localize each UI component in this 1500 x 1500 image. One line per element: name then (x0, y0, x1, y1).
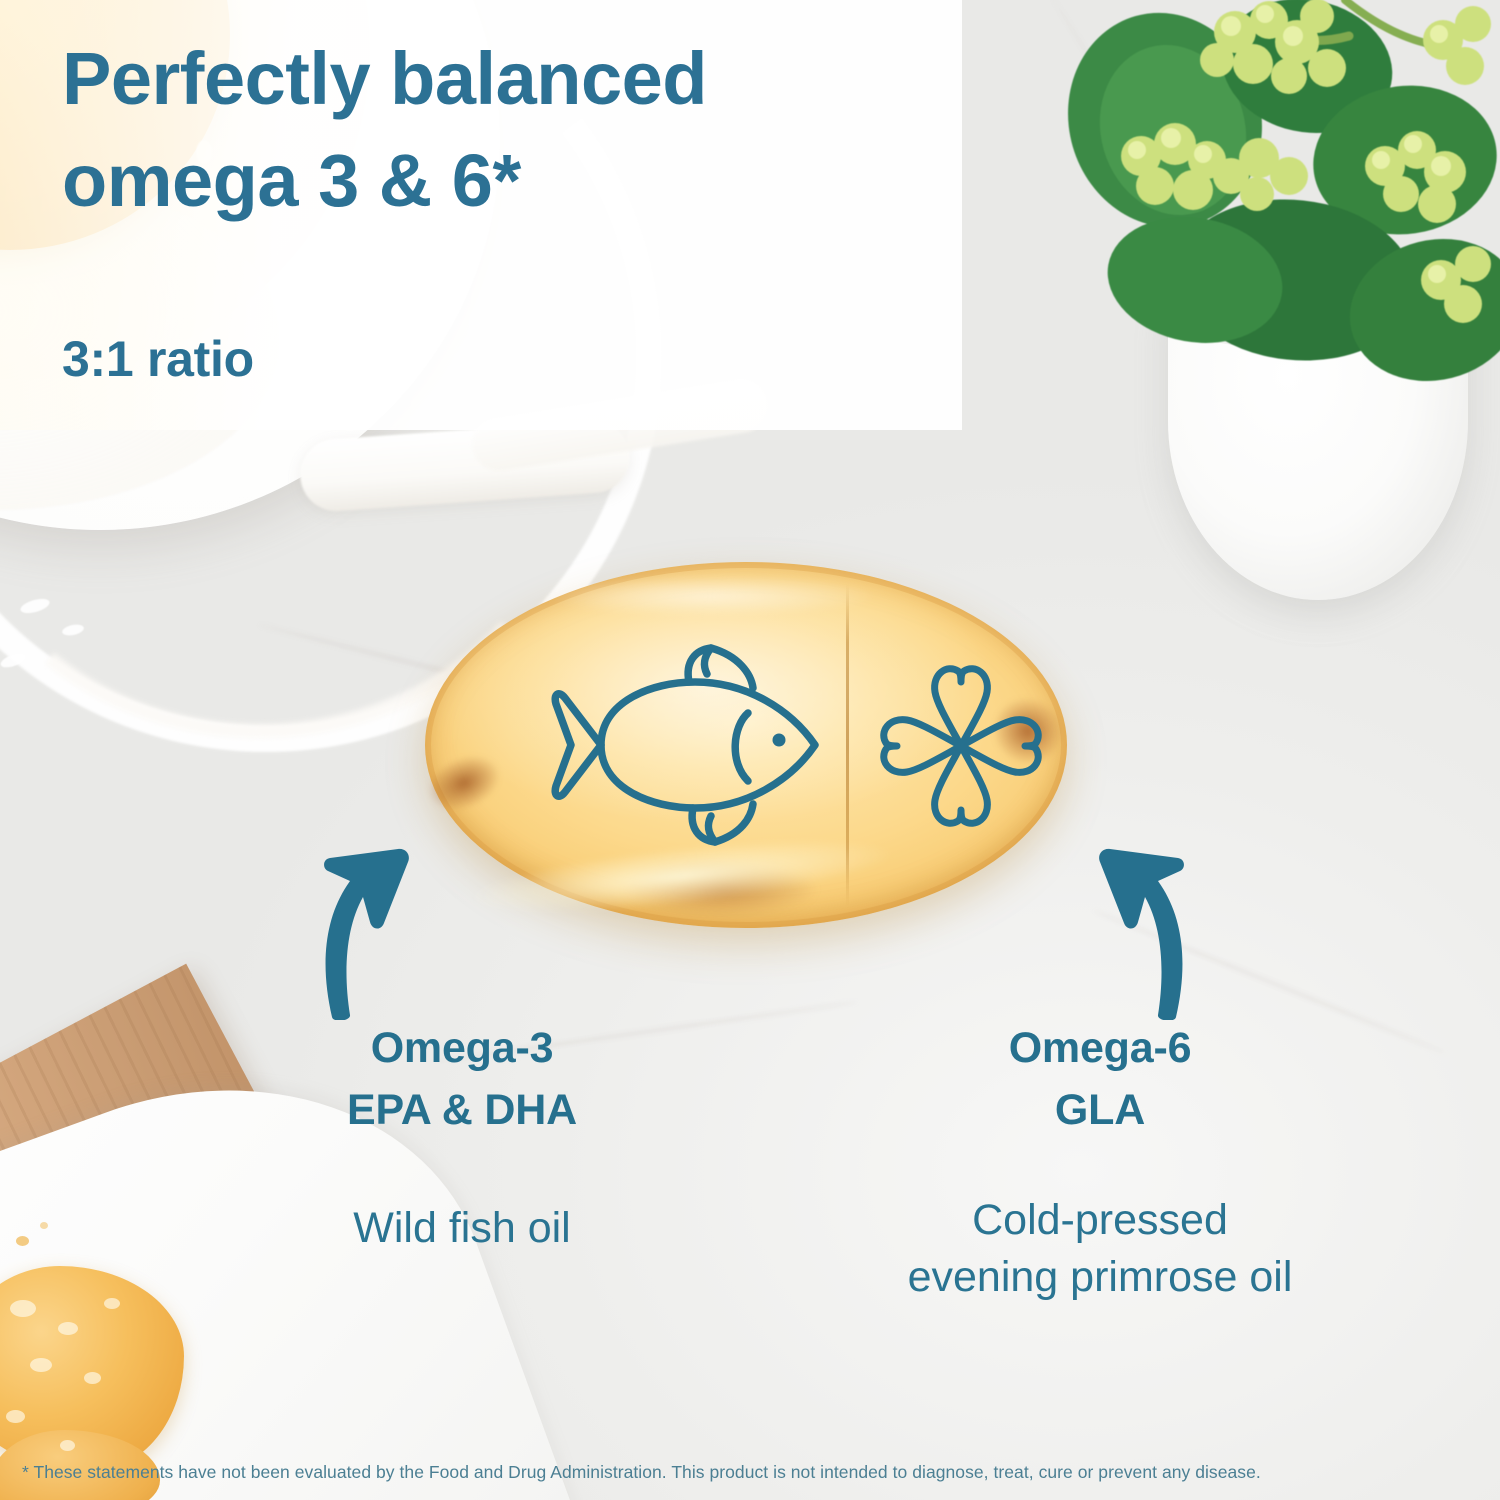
capsule-highlight-top (545, 576, 875, 616)
plant-berries (1045, 0, 1500, 410)
honey-bubble (104, 1298, 120, 1309)
omega-6-subtitle: GLA (820, 1086, 1380, 1134)
headline-line-1: Perfectly balanced (62, 37, 707, 120)
honey-bubble (60, 1440, 75, 1451)
product-infographic: Perfectly balanced omega 3 & 6* 3:1 rati… (0, 0, 1500, 1500)
fish-icon (543, 640, 843, 850)
softgel-capsule (425, 562, 1067, 928)
omega-6-column: Omega-6 GLA Cold-pressed evening primros… (820, 1024, 1380, 1306)
omega-6-source: Cold-pressed evening primrose oil (820, 1192, 1380, 1306)
headline-subhead: 3:1 ratio (62, 330, 254, 388)
honey-bubble (84, 1372, 101, 1384)
capsule-seam-line (846, 584, 849, 906)
honey-bubble (30, 1358, 52, 1372)
headline-line-2: omega 3 & 6* (62, 144, 942, 218)
omega-6-title: Omega-6 (820, 1024, 1380, 1072)
curved-arrow-up-left-icon (1058, 805, 1198, 1020)
omega-3-column: Omega-3 EPA & DHA Wild fish oil (216, 1024, 708, 1257)
honey-bubble (10, 1300, 36, 1317)
omega-3-subtitle: EPA & DHA (216, 1086, 708, 1134)
omega-3-title: Omega-3 (216, 1024, 708, 1072)
omega-3-source: Wild fish oil (216, 1200, 708, 1257)
clover-icon (875, 658, 1047, 834)
page-title: Perfectly balanced omega 3 & 6* (62, 42, 942, 218)
fda-disclaimer: * These statements have not been evaluat… (22, 1461, 1482, 1484)
omega-6-source-line-1: Cold-pressed (972, 1196, 1228, 1244)
honey-bubble (6, 1410, 25, 1423)
honey-bubble (58, 1322, 78, 1335)
omega-6-source-line-2: evening primrose oil (908, 1253, 1293, 1301)
headline-panel: Perfectly balanced omega 3 & 6* 3:1 rati… (0, 0, 962, 430)
honey-speck (16, 1236, 29, 1246)
honey-speck (40, 1222, 48, 1229)
curved-arrow-up-right-icon (310, 805, 450, 1020)
